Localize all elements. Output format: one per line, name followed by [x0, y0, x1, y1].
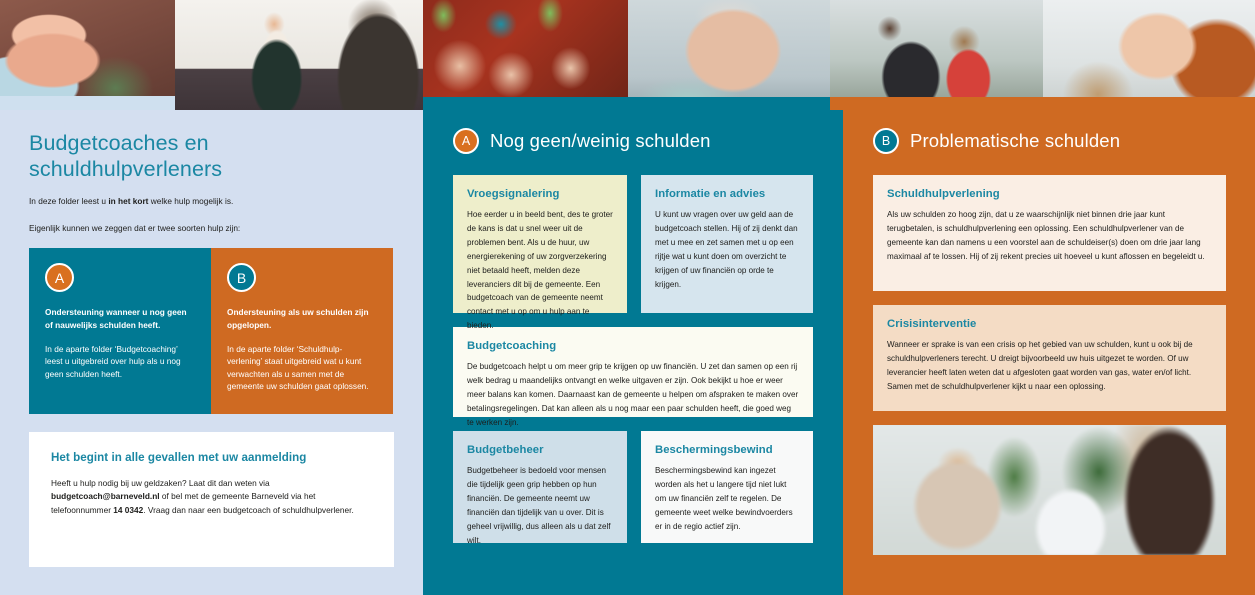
intro-text-before: In deze folder leest u: [29, 196, 108, 206]
contact-phone[interactable]: 14 0342: [113, 505, 143, 515]
photo-children-party-hats-clapping: [423, 0, 628, 110]
card-body: Wanneer er sprake is van een crisis op h…: [887, 338, 1212, 394]
intro-column: Budgetcoaches en schuldhulpverleners In …: [0, 110, 423, 595]
section-a-header: A Nog geen/weinig schulden: [453, 128, 813, 154]
card-crisisinterventie: Crisisinterventie Wanneer er sprake is v…: [873, 305, 1226, 411]
card-title: Informatie en advies: [655, 188, 799, 200]
photo-image: [0, 0, 175, 110]
card-beschermingsbewind: Beschermingsbewind Beschermingsbewind ka…: [641, 431, 813, 543]
section-a-title: Nog geen/weinig schulden: [490, 130, 711, 152]
card-title: Crisisinterventie: [887, 318, 1212, 330]
card-budgetcoaching: Budgetcoaching De budgetcoach helpt u om…: [453, 327, 813, 417]
option-b-body: In de aparte folder ‘Schuldhulp-verlenin…: [227, 343, 377, 393]
photo-image: [873, 425, 1226, 555]
section-a-badge-icon: A: [453, 128, 479, 154]
photo-senior-woman-on-phone: [628, 0, 830, 110]
card-title: Beschermingsbewind: [655, 444, 799, 456]
card-budgetbeheer: Budgetbeheer Budgetbeheer is bedoeld voo…: [453, 431, 627, 543]
option-card-b: B Ondersteuning als uw schulden zijn opg…: [211, 248, 393, 414]
intro-paragraph: In deze folder leest u in het kort welke…: [29, 195, 394, 207]
photo-image: [830, 0, 1043, 110]
card-title: Budgetbeheer: [467, 444, 613, 456]
section-b-column: B Problematische schulden Schuldhulpverl…: [843, 110, 1255, 595]
photo-advisor-taking-notes-with-client: [873, 425, 1226, 555]
signup-text-3: . Vraag dan naar een budgetcoach of schu…: [143, 505, 354, 515]
photo-image: [175, 0, 423, 110]
option-b-heading: Ondersteuning als uw schulden zijn opgel…: [227, 306, 377, 331]
section-b-title: Problematische schulden: [910, 130, 1120, 152]
folder-infographic-page: Budgetcoaches en schuldhulpverleners In …: [0, 0, 1255, 595]
intro-paragraph-2: Eigenlijk kunnen we zeggen dat er twee s…: [29, 222, 394, 234]
signup-text-1: Heeft u hulp nodig bij uw geldzaken? Laa…: [51, 478, 270, 488]
section-b-header: B Problematische schulden: [873, 128, 1226, 154]
header-photo-strip: [0, 0, 1255, 110]
page-title: Budgetcoaches en schuldhulpverleners: [29, 130, 394, 182]
option-card-a: A Ondersteuning wanneer u nog geen of na…: [29, 248, 211, 414]
badge-a-icon: A: [45, 263, 74, 292]
option-cards-group: A Ondersteuning wanneer u nog geen of na…: [29, 248, 394, 414]
card-body: Beschermingsbewind kan ingezet worden al…: [655, 464, 799, 534]
badge-b-icon: B: [227, 263, 256, 292]
card-schuldhulpverlening: Schuldhulpverlening Als uw schulden zo h…: [873, 175, 1226, 291]
card-body: De budgetcoach helpt u om meer grip te k…: [467, 360, 799, 430]
card-title: Schuldhulpverlening: [887, 188, 1212, 200]
contact-email[interactable]: budgetcoach@barneveld.nl: [51, 491, 160, 501]
option-a-body: In de aparte folder ‘Budgetcoaching’ lee…: [45, 343, 195, 381]
photo-young-man-gesturing-conversation: [175, 0, 423, 110]
photo-image: [1043, 0, 1255, 110]
intro-text-after: welke hulp mogelijk is.: [148, 196, 233, 206]
signup-callout-card: Het begint in alle gevallen met uw aanme…: [29, 432, 394, 567]
photo-parent-and-child-dancing: [830, 0, 1043, 110]
card-body: U kunt uw vragen over uw geld aan de bud…: [655, 208, 799, 291]
card-title: Budgetcoaching: [467, 340, 799, 352]
section-a-cards-row-2: Budgetbeheer Budgetbeheer is bedoeld voo…: [453, 431, 813, 543]
card-body: Als uw schulden zo hoog zijn, dat u ze w…: [887, 208, 1212, 264]
section-b-badge-icon: B: [873, 128, 899, 154]
photo-image: [628, 0, 830, 110]
signup-callout-title: Het begint in alle gevallen met uw aanme…: [51, 451, 372, 464]
card-vroegsignalering: Vroegsignalering Hoe eerder u in beeld b…: [453, 175, 627, 313]
section-a-cards-row-1: Vroegsignalering Hoe eerder u in beeld b…: [453, 175, 813, 313]
photo-young-woman-worried: [1043, 0, 1255, 110]
card-title: Vroegsignalering: [467, 188, 613, 200]
intro-text-emphasis: in het kort: [108, 196, 148, 206]
option-a-heading: Ondersteuning wanneer u nog geen of nauw…: [45, 306, 195, 331]
photo-woman-headscarf-laptop: [0, 0, 175, 110]
card-body: Budgetbeheer is bedoeld voor mensen die …: [467, 464, 613, 547]
section-a-column: A Nog geen/weinig schulden Vroegsignaler…: [423, 110, 843, 595]
card-body: Hoe eerder u in beeld bent, des te grote…: [467, 208, 613, 333]
card-informatie-en-advies: Informatie en advies U kunt uw vragen ov…: [641, 175, 813, 313]
photo-image: [423, 0, 628, 110]
signup-callout-body: Heeft u hulp nodig bij uw geldzaken? Laa…: [51, 477, 372, 516]
